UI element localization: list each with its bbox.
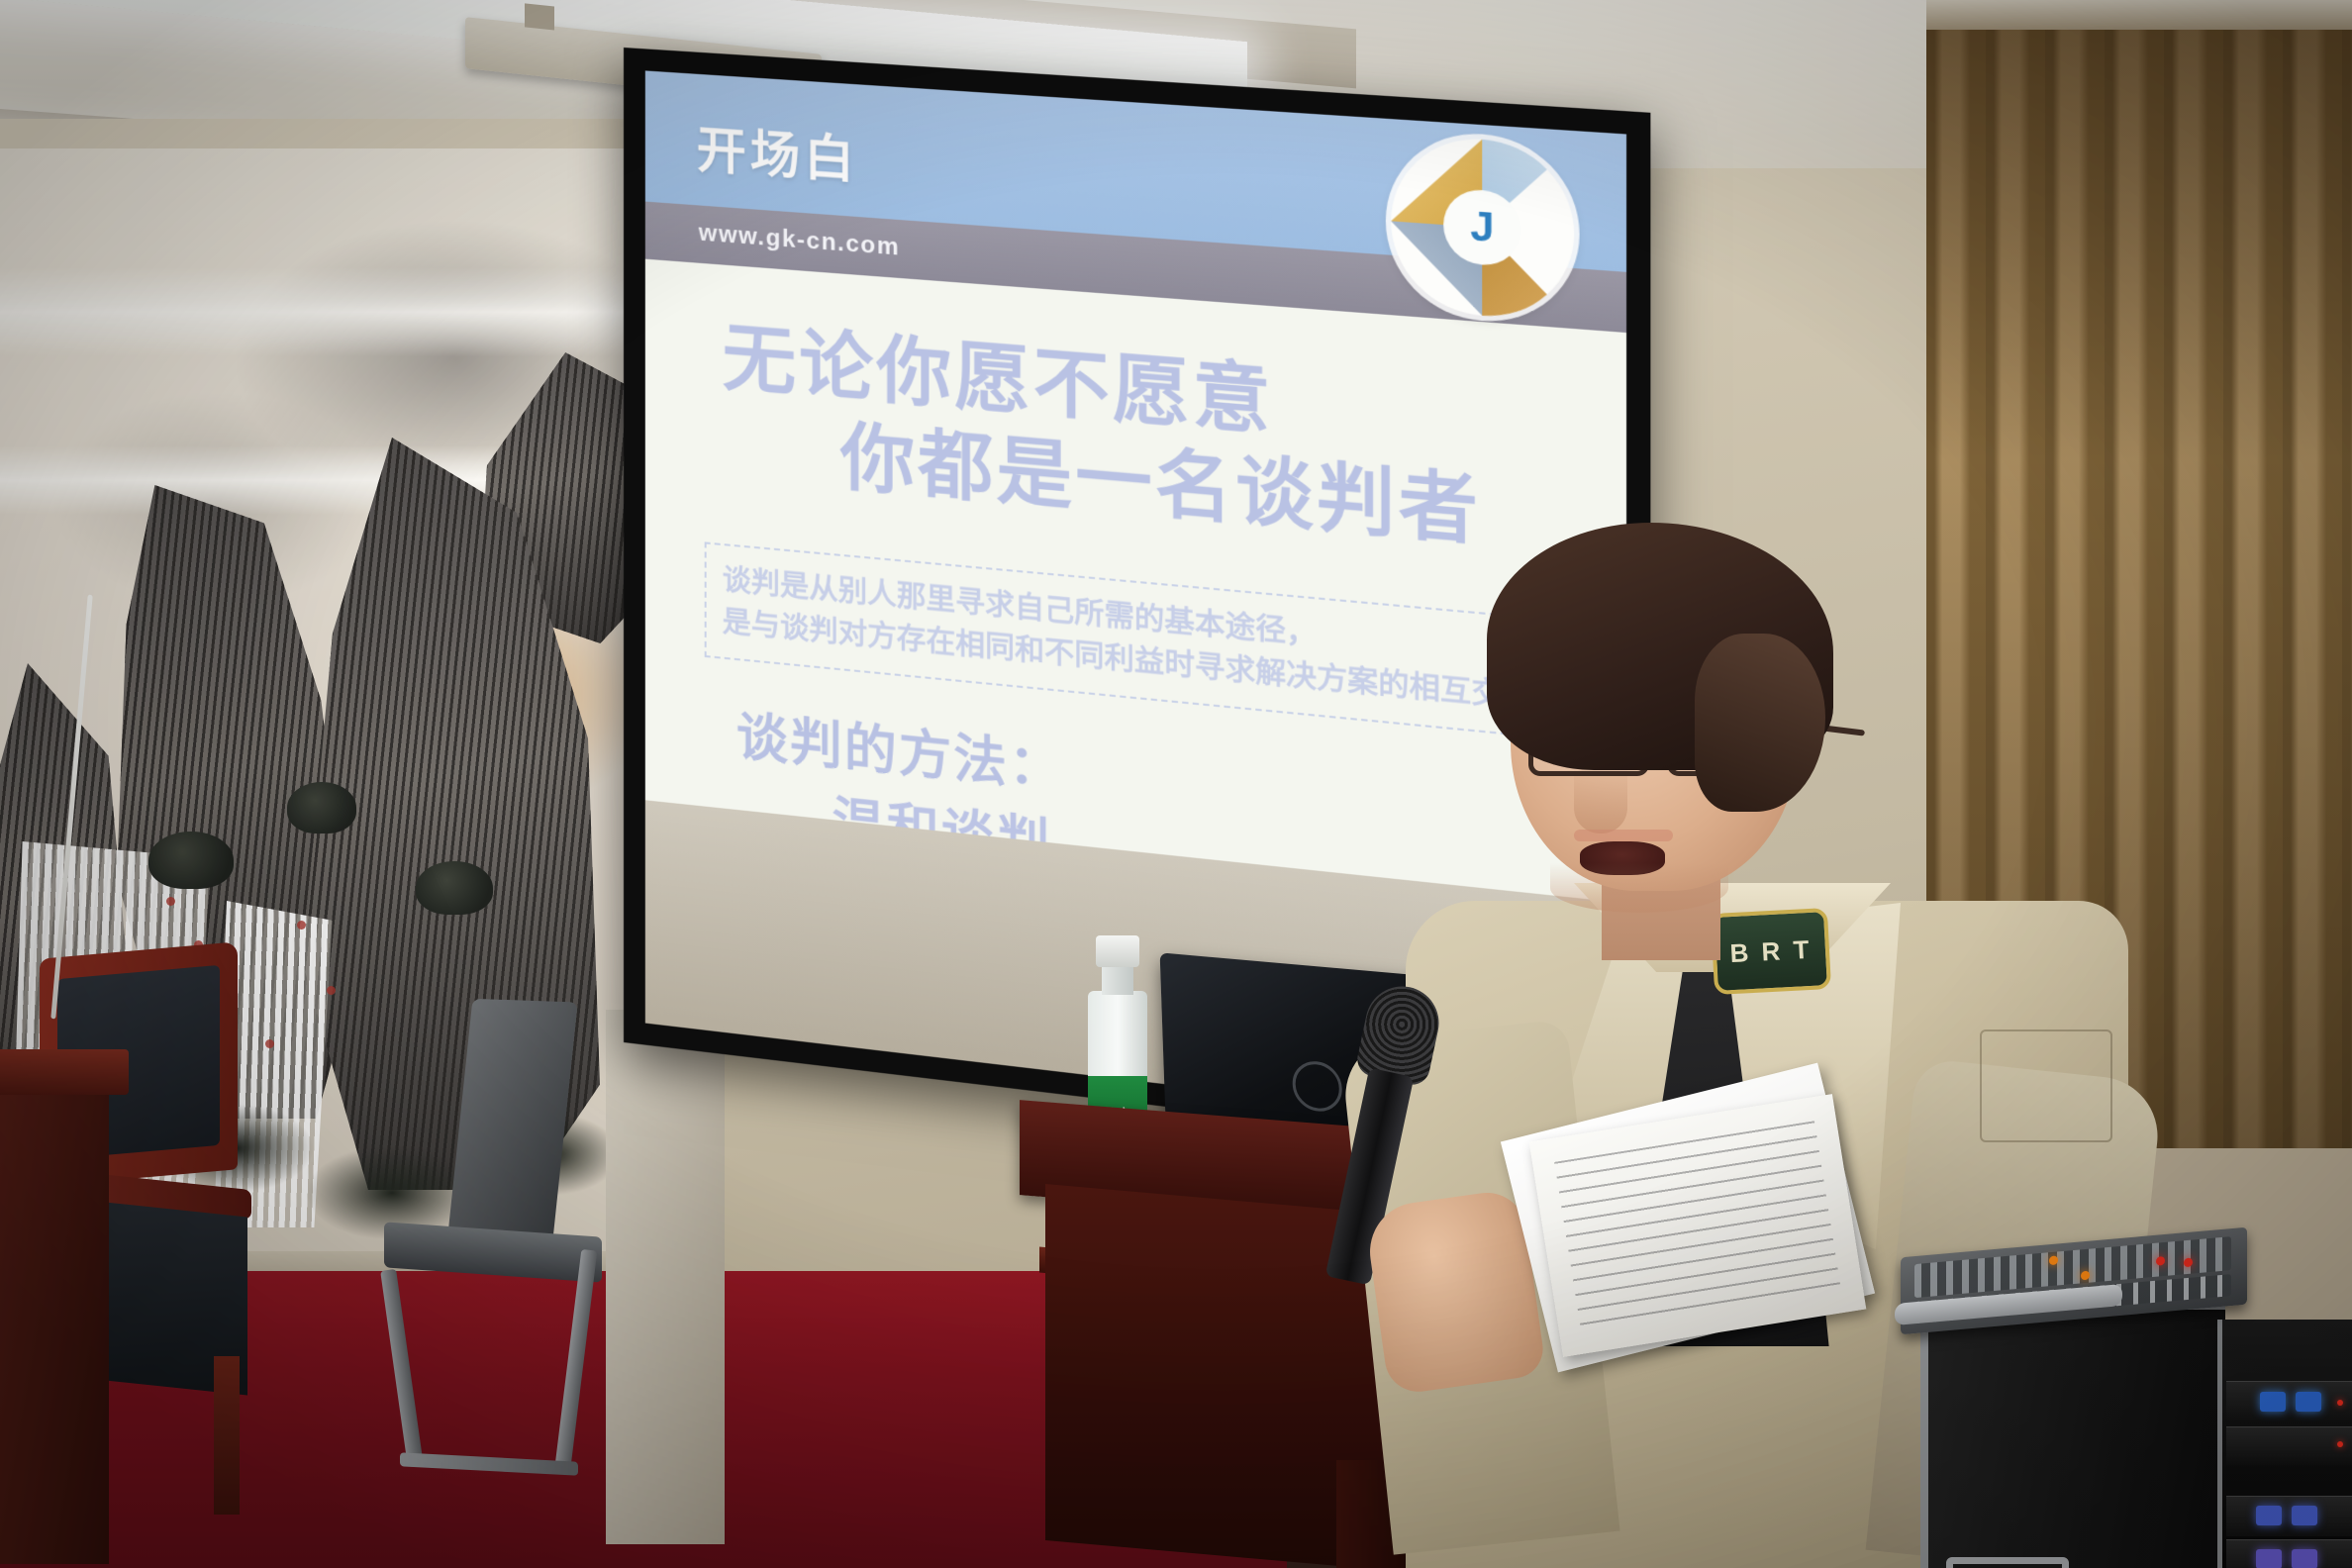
presenter-upper-lip [1574, 830, 1673, 841]
bottle-neck [1102, 965, 1133, 995]
side-table-body [0, 1079, 109, 1564]
printed-notes-text-lines [1554, 1121, 1841, 1329]
amplifier-1 [2226, 1496, 2352, 1536]
side-table-top [0, 1049, 129, 1095]
flight-case-rack [1920, 1242, 2352, 1568]
amplifier-2 [2226, 1539, 2352, 1568]
jacket-patch-text: B R T [1729, 933, 1813, 968]
white-cabinet [606, 1010, 725, 1544]
curtain-rail [1926, 0, 2352, 30]
presenter-hair-side [1695, 634, 1825, 812]
rack-case-body [1920, 1302, 2225, 1568]
wireless-receiver-1 [2226, 1381, 2352, 1423]
rack-case-handle[interactable] [1946, 1557, 2069, 1568]
wireless-receiver-2 [2226, 1426, 2352, 1465]
rack-equipment-bay [2217, 1320, 2352, 1568]
jacket-pocket [1980, 1029, 2112, 1142]
bottle-cap [1096, 935, 1139, 967]
jacket-brand-patch: B R T [1711, 908, 1831, 995]
logo-monogram: J [1470, 206, 1494, 249]
metal-folding-chair [374, 1000, 622, 1475]
presenter-chin [1550, 863, 1728, 913]
laptop-logo-emblem [1292, 1059, 1343, 1114]
screen-mount-bracket [525, 3, 554, 30]
slide-header-title: 开场白 [697, 110, 858, 193]
photo-scene: 开场白 www.gk-cn.com J 无论你愿不愿意 你都是一名谈判者 [0, 0, 2352, 1568]
